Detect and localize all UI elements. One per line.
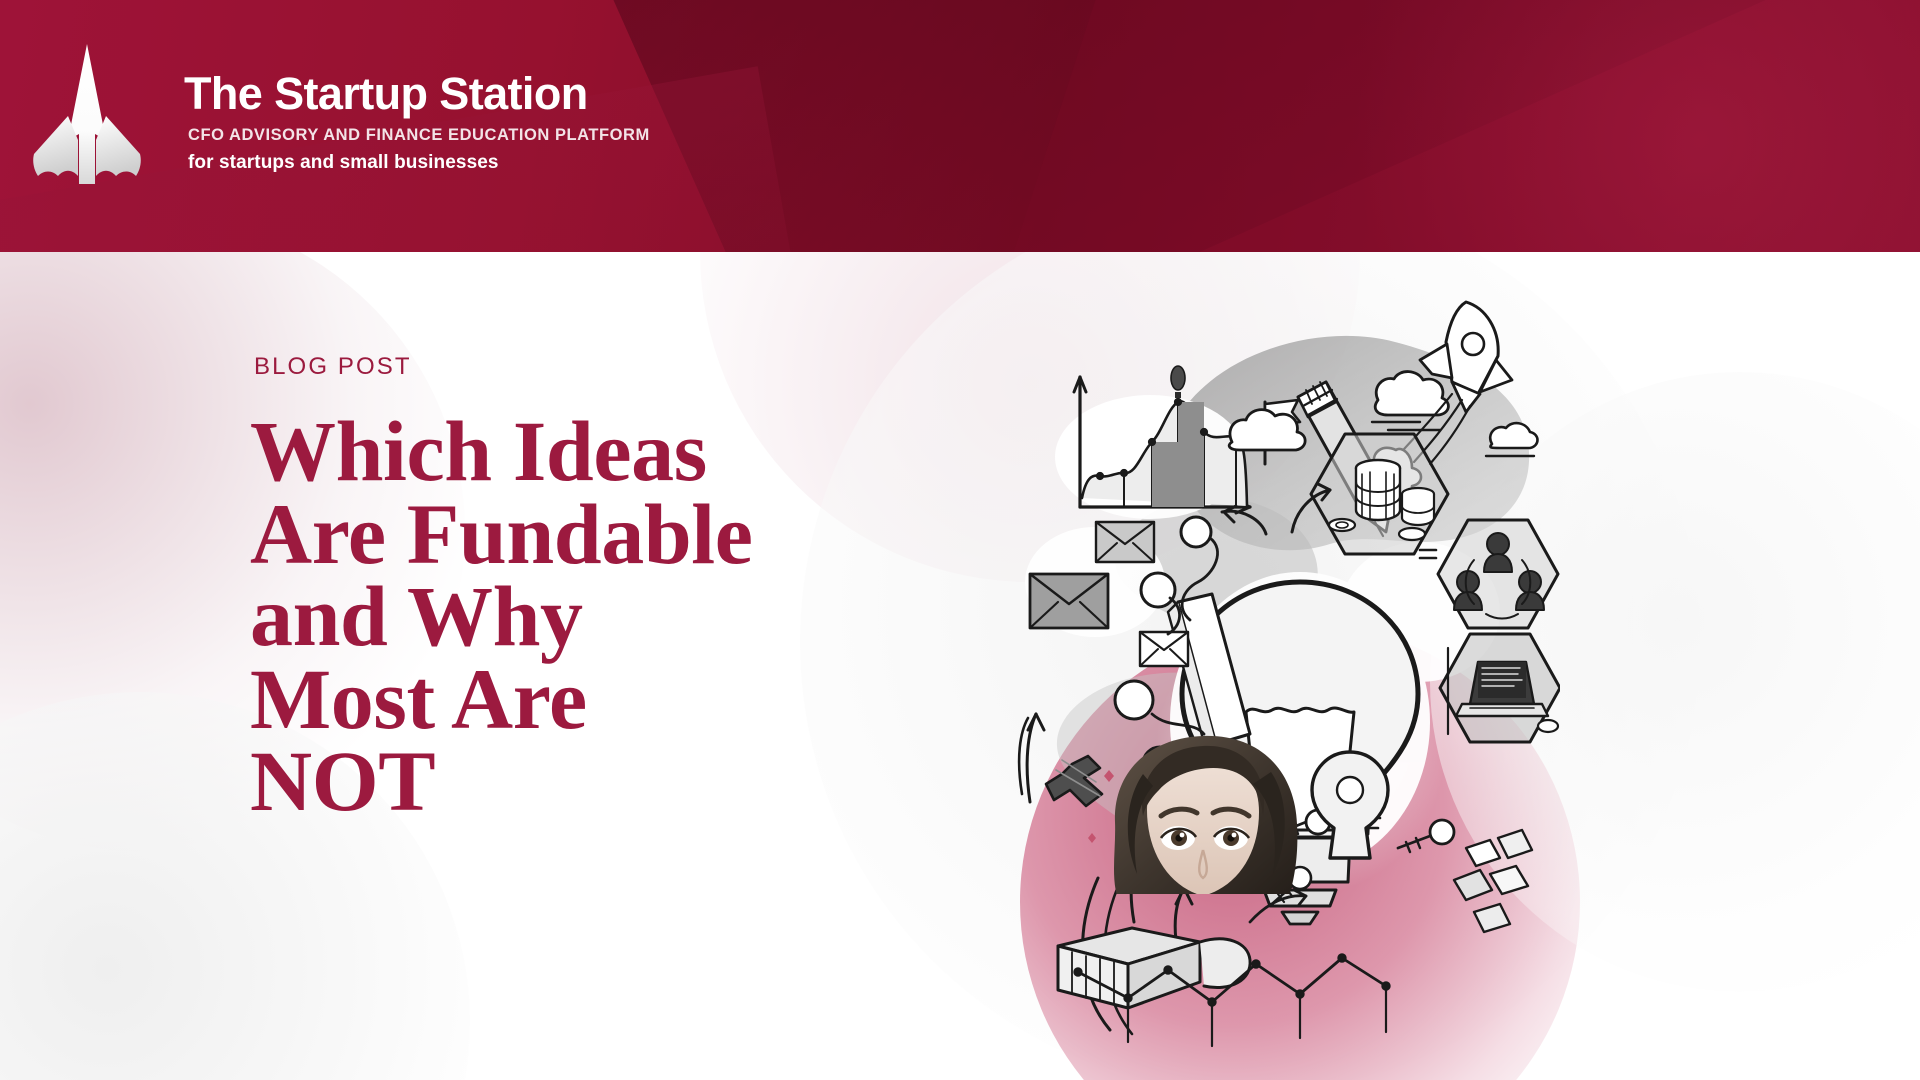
header-glow-shape xyxy=(1340,0,1920,252)
brand-title: The Startup Station xyxy=(184,68,588,120)
woman-face-photo xyxy=(1103,724,1303,894)
site-header: The Startup Station CFO ADVISORY AND FIN… xyxy=(0,0,1920,252)
page-title: Which Ideas Are Fundable and Why Most Ar… xyxy=(250,410,890,823)
idea-doodle-collage xyxy=(1000,282,1560,1080)
headline-line: Are Fundable xyxy=(250,493,890,576)
post-category-label: BLOG POST xyxy=(254,353,412,381)
headline-line: Most Are xyxy=(250,658,890,741)
headline-line: NOT xyxy=(250,740,890,823)
headline-line: Which Ideas xyxy=(250,410,890,493)
brand-tagline-line-1: CFO ADVISORY AND FINANCE EDUCATION PLATF… xyxy=(188,126,650,145)
cylinder-database-icon xyxy=(1058,928,1250,1008)
envelope-icon xyxy=(1140,632,1188,666)
dollar-sign-icon xyxy=(1046,756,1102,806)
brand-tagline-line-2: for startups and small businesses xyxy=(188,152,499,174)
envelope-icon xyxy=(1030,574,1108,628)
documents-stack-icon xyxy=(1454,830,1532,932)
rocket-arrow-logo-icon xyxy=(22,36,152,196)
blog-post-hero-slide: The Startup Station CFO ADVISORY AND FIN… xyxy=(0,0,1920,1080)
arrow-icon xyxy=(1019,714,1044,802)
hero-body: BLOG POST Which Ideas Are Fundable and W… xyxy=(0,252,1920,1080)
headline-line: and Why xyxy=(250,575,890,658)
brand-logo[interactable]: The Startup Station CFO ADVISORY AND FIN… xyxy=(22,28,1022,208)
envelope-icon xyxy=(1096,522,1154,562)
